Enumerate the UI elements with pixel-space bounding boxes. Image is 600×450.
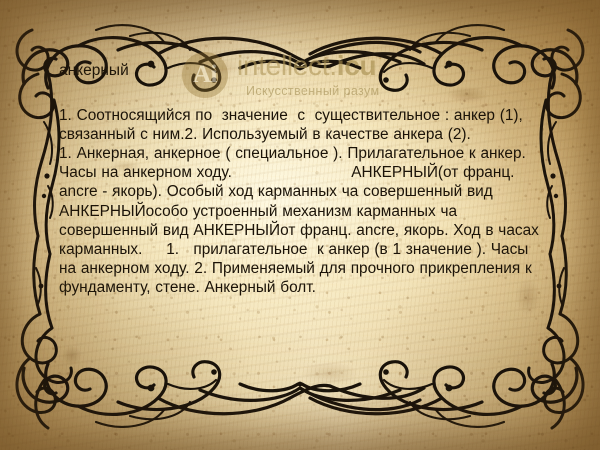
- entry-headword: анкерный: [59, 62, 539, 81]
- ornament-bottom-icon: [0, 360, 600, 446]
- entry-content: анкерный 1. Соотносящийся по значение с …: [59, 62, 539, 298]
- parchment-page: Ai intellect.icu Искусственный разум анк…: [0, 0, 600, 450]
- entry-definition: 1. Соотносящийся по значение с существит…: [59, 106, 539, 298]
